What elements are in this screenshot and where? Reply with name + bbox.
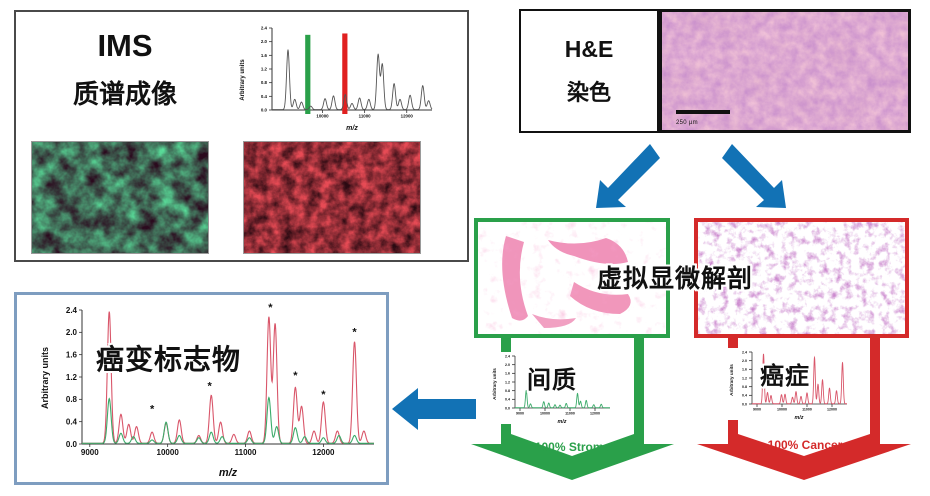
svg-text:2.0: 2.0	[66, 328, 78, 337]
ims-y-axis-label: Arbitrary units	[240, 59, 246, 101]
svg-text:12000: 12000	[590, 412, 600, 416]
svg-text:10000: 10000	[157, 448, 180, 457]
svg-text:2.0: 2.0	[505, 363, 510, 367]
he-label-en: H&E	[565, 36, 614, 63]
cancer-percent-label: 100% Cancer	[700, 438, 910, 452]
svg-text:12000: 12000	[827, 408, 837, 412]
red-ion-image	[243, 141, 421, 254]
svg-text:*: *	[321, 389, 326, 401]
svg-text:*: *	[150, 404, 155, 416]
biomarker-label: 癌变标志物	[96, 338, 241, 378]
svg-text:2.0: 2.0	[261, 39, 268, 44]
svg-text:1.2: 1.2	[742, 376, 747, 380]
ims-panel-label: IMS 质谱成像	[40, 28, 210, 111]
svg-text:1.2: 1.2	[261, 67, 268, 72]
svg-text:9000: 9000	[81, 448, 99, 457]
ims-label-en: IMS	[40, 28, 210, 64]
svg-text:1.6: 1.6	[261, 53, 268, 58]
svg-text:*: *	[293, 370, 298, 382]
svg-text:1.6: 1.6	[66, 350, 78, 359]
svg-text:0.8: 0.8	[66, 395, 78, 404]
svg-text:10000: 10000	[540, 412, 550, 416]
ims-x-axis-label: m/z	[346, 125, 358, 132]
scale-bar	[676, 110, 730, 114]
svg-text:10000: 10000	[777, 408, 787, 412]
svg-text:1.6: 1.6	[742, 368, 747, 372]
svg-text:1.6: 1.6	[505, 372, 510, 376]
svg-text:2.4: 2.4	[261, 26, 268, 31]
stroma-label: 间质	[527, 360, 577, 395]
virtual-microdissection-label: 虚拟显微解剖	[597, 259, 753, 295]
cancer-x-axis-label: m/z	[795, 415, 804, 420]
green-ion-image	[31, 141, 209, 254]
svg-text:*: *	[208, 380, 213, 392]
svg-text:0.4: 0.4	[505, 398, 510, 402]
svg-text:0.0: 0.0	[505, 406, 510, 410]
svg-text:2.0: 2.0	[742, 359, 747, 363]
svg-text:11000: 11000	[565, 412, 575, 416]
svg-text:11000: 11000	[359, 113, 372, 118]
arrow-down-left-icon	[588, 138, 666, 214]
he-stained-tissue-image: 250 µm	[659, 9, 911, 133]
he-label-panel: H&E 染色	[519, 9, 659, 133]
svg-text:2.4: 2.4	[66, 306, 78, 315]
cancer-label: 癌症	[760, 356, 810, 391]
svg-text:0.0: 0.0	[742, 402, 747, 406]
biomarker-x-axis-label: m/z	[219, 467, 238, 479]
biomarker-overlay-chart: 0.00.40.81.21.62.02.4 900010000110001200…	[22, 300, 382, 480]
arrow-down-right-icon	[716, 138, 794, 214]
svg-text:0.4: 0.4	[66, 417, 78, 426]
biomarker-y-axis-label: Arbitrary units	[40, 347, 50, 409]
svg-text:10000: 10000	[316, 113, 329, 118]
svg-text:2.4: 2.4	[505, 354, 510, 358]
svg-text:12000: 12000	[312, 448, 335, 457]
svg-text:0.4: 0.4	[261, 94, 268, 99]
cancer-y-axis-label: Arbitrary units	[729, 364, 734, 396]
svg-text:1.2: 1.2	[66, 373, 78, 382]
svg-text:0.0: 0.0	[261, 108, 268, 113]
arrow-left-icon	[388, 386, 480, 432]
svg-text:11000: 11000	[802, 408, 812, 412]
svg-text:0.8: 0.8	[505, 389, 510, 393]
svg-text:*: *	[352, 327, 357, 339]
svg-text:9000: 9000	[753, 408, 761, 412]
scale-bar-label: 250 µm	[676, 120, 698, 126]
svg-text:0.8: 0.8	[742, 385, 747, 389]
svg-text:9000: 9000	[516, 412, 524, 416]
svg-text:1.2: 1.2	[505, 380, 510, 384]
stroma-y-axis-label: Arbitrary units	[492, 368, 497, 400]
svg-text:12000: 12000	[401, 113, 414, 118]
svg-text:0.4: 0.4	[742, 394, 747, 398]
svg-text:11000: 11000	[235, 448, 257, 457]
ims-spectrum-chart: 0.00.40.81.21.62.02.4 100001100012000 Ar…	[232, 20, 437, 132]
stroma-percent-label: 100% Stroma	[470, 440, 675, 454]
svg-text:*: *	[268, 302, 273, 314]
stroma-x-axis-label: m/z	[558, 419, 567, 424]
svg-text:2.4: 2.4	[742, 350, 747, 354]
svg-text:0.8: 0.8	[261, 80, 268, 85]
he-label-cjk: 染色	[567, 75, 611, 107]
ims-label-cjk: 质谱成像	[40, 74, 210, 111]
svg-text:0.0: 0.0	[66, 440, 78, 449]
